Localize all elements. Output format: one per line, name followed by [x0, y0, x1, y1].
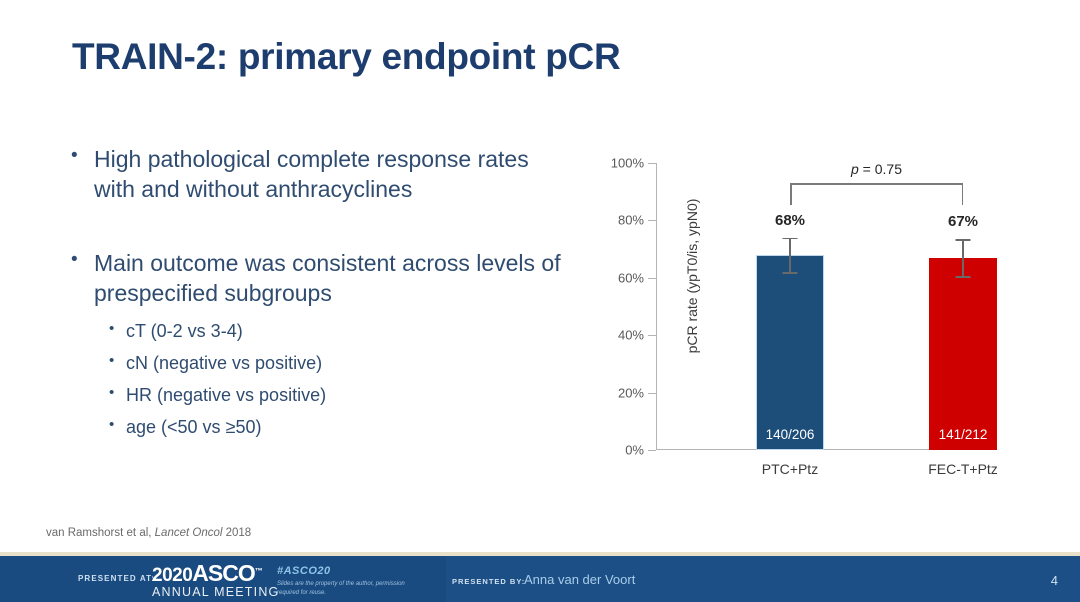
citation-authors: van Ramshorst et al,: [46, 527, 155, 539]
x-axis-category-label: PTC+Ptz: [762, 461, 818, 477]
y-axis-tick: [648, 163, 656, 164]
bar-ptc-ptz[interactable]: 140/206: [756, 255, 824, 450]
sub-bullet-item-cn: cN (negative vs positive): [106, 353, 566, 374]
asco-logo: 2020ASCO™ ANNUAL MEETING: [152, 562, 279, 601]
y-axis-tick: [648, 335, 656, 336]
bracket-horizontal: [790, 183, 963, 185]
disclaimer-text: Slides are the property of the author, p…: [277, 580, 407, 597]
footer-bar: PRESENTED AT: 2020ASCO™ ANNUAL MEETING #…: [0, 556, 1080, 602]
significance-bracket: [790, 183, 963, 205]
bar-fec-t-ptz[interactable]: 141/212: [929, 258, 997, 450]
presented-at-label: PRESENTED AT:: [78, 574, 155, 583]
y-axis-tick: [648, 220, 656, 221]
bar-count-label: 140/206: [757, 427, 823, 442]
y-axis-tick-label: 60%: [618, 270, 644, 285]
error-bar-cap-lower: [956, 276, 971, 278]
y-axis-tick-label: 80%: [618, 213, 644, 228]
citation-year: 2018: [222, 527, 251, 539]
y-axis-tick-label: 100%: [611, 156, 644, 171]
bullet-list: High pathological complete response rate…: [66, 145, 566, 450]
asco-logo-year: 2020: [152, 565, 192, 586]
p-value-annotation: p = 0.75: [851, 161, 902, 177]
y-axis-tick-label: 0%: [625, 443, 644, 458]
pcr-bar-chart: pCR rate (ypT0/is, ypN0) 0%20%40%60%80%1…: [588, 150, 1008, 480]
sub-bullet-item-hr: HR (negative vs positive): [106, 385, 566, 406]
page-title: TRAIN-2: primary endpoint pCR: [72, 36, 620, 78]
sub-bullet-list: cT (0-2 vs 3-4) cN (negative vs positive…: [66, 321, 566, 439]
x-axis-category-label: FEC-T+Ptz: [928, 461, 998, 477]
plot-area: 0%20%40%60%80%100%140/20668%PTC+Ptz141/2…: [656, 163, 986, 450]
bullet-item-2: Main outcome was consistent across level…: [66, 249, 566, 309]
error-bar-cap-lower: [783, 272, 798, 274]
citation-journal: Lancet Oncol: [155, 527, 223, 539]
y-axis-line: [656, 163, 657, 450]
bar-value-label: 68%: [775, 212, 805, 229]
bracket-right-leg: [962, 183, 964, 205]
error-bar-cap-upper: [783, 238, 798, 240]
p-symbol: p: [851, 161, 859, 177]
error-bar: [962, 239, 964, 276]
y-axis-tick-label: 20%: [618, 385, 644, 400]
asco-logo-trademark: ™: [255, 567, 263, 576]
sub-bullet-item-age: age (<50 vs ≥50): [106, 417, 566, 438]
sub-bullet-item-ct: cT (0-2 vs 3-4): [106, 321, 566, 342]
asco-logo-subtitle: ANNUAL MEETING: [152, 585, 279, 601]
asco-logo-name: ASCO: [192, 560, 254, 586]
presenter-name: Anna van der Voort: [524, 572, 635, 587]
hashtag-label: #ASCO20: [277, 565, 331, 577]
y-axis-tick: [648, 278, 656, 279]
presented-by-label: PRESENTED BY:: [452, 577, 525, 586]
y-axis-tick-label: 40%: [618, 328, 644, 343]
p-value-text: = 0.75: [859, 161, 902, 177]
slide: TRAIN-2: primary endpoint pCR High patho…: [0, 0, 1080, 602]
bar-value-label: 67%: [948, 213, 978, 230]
y-axis-tick: [648, 393, 656, 394]
slide-number: 4: [1051, 573, 1058, 588]
error-bar: [789, 238, 791, 272]
bracket-left-leg: [790, 183, 792, 205]
error-bar-cap-upper: [956, 239, 971, 241]
y-axis-tick: [648, 450, 656, 451]
bullet-item-1: High pathological complete response rate…: [66, 145, 566, 205]
citation: van Ramshorst et al, Lancet Oncol 2018: [46, 527, 251, 539]
bar-count-label: 141/212: [930, 427, 996, 442]
asco-logo-line1: 2020ASCO™: [152, 562, 279, 585]
